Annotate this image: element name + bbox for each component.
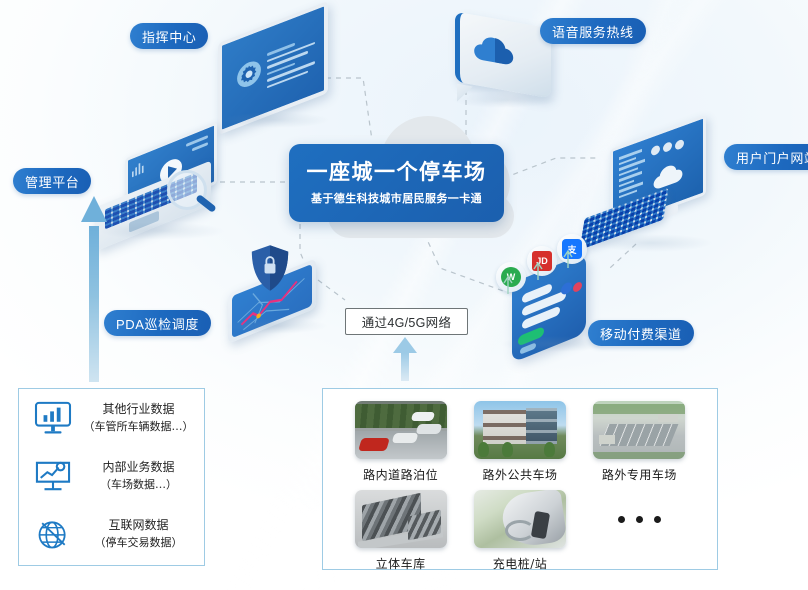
monitor-shadow — [222, 112, 330, 128]
payment-up-arrows — [492, 238, 602, 300]
monitor-line-chart-icon — [31, 456, 75, 496]
public-garage-photo — [474, 401, 566, 459]
scene-item[interactable]: 路外公共车场 — [460, 401, 579, 486]
data-source-title: 其他行业数据 — [81, 401, 196, 418]
globe-network-icon — [31, 514, 75, 554]
network-label: 通过4G/5G网络 — [362, 312, 452, 331]
data-source-detail: （车场数据…） — [81, 477, 196, 493]
data-sources-panel: 其他行业数据 （车管所车辆数据…） 内部业务数据 （车场数据…） — [18, 388, 205, 566]
banner-subtitle: 基于德生科技城市居民服务一卡通 — [311, 190, 482, 206]
screen-bars-icon — [132, 155, 154, 179]
infographic-canvas: 指挥中心 语音服务热线 — [0, 0, 808, 590]
pda-tablet — [228, 262, 318, 324]
scene-label: 路外公共车场 — [482, 466, 557, 483]
parking-scenes-panel: 路内道路泊位 路外公共车场 路外专用车场 — [322, 388, 718, 570]
banner-title: 一座城一个停车场 — [307, 160, 487, 183]
management-laptop — [95, 140, 221, 232]
data-source-row[interactable]: 内部业务数据 （车场数据…） — [19, 447, 204, 505]
scene-item[interactable]: 立体车库 — [341, 490, 460, 575]
scene-label: 路外专用车场 — [602, 466, 677, 483]
management-flow-arrow — [80, 196, 108, 382]
voice-hotline-bubble — [455, 20, 551, 90]
badge-command-center[interactable]: 指挥中心 — [130, 23, 208, 49]
scene-item[interactable]: 路外专用车场 — [580, 401, 699, 486]
scene-label: 路内道路泊位 — [363, 466, 438, 483]
center-banner: 一座城一个停车场 基于德生科技城市居民服务一卡通 — [289, 144, 504, 222]
data-source-title: 内部业务数据 — [81, 459, 196, 476]
badge-pda-dispatch[interactable]: PDA巡检调度 — [104, 310, 211, 336]
tablet-shadow — [224, 318, 328, 334]
ellipsis-icon — [618, 490, 661, 548]
badge-voice-hotline[interactable]: 语音服务热线 — [540, 18, 646, 44]
shield-lock-icon — [250, 244, 290, 292]
data-source-title: 互联网数据 — [81, 517, 196, 534]
street-parking-photo — [355, 401, 447, 459]
multilevel-garage-photo — [355, 490, 447, 548]
bubble-shadow — [452, 92, 558, 108]
badge-management-platform[interactable]: 管理平台 — [13, 168, 91, 194]
monitor-text-lines — [267, 35, 315, 92]
scene-item[interactable]: 路内道路泊位 — [341, 401, 460, 486]
data-source-detail: （车管所车辆数据…） — [81, 419, 196, 435]
desktop-shadow — [588, 234, 714, 252]
badge-user-portal[interactable]: 用户门户网站 — [724, 144, 808, 170]
scene-item[interactable]: 充电桩/站 — [460, 490, 579, 575]
network-flow-arrow — [392, 337, 418, 381]
gear-icon — [236, 56, 262, 92]
data-source-row[interactable]: 互联网数据 （停车交易数据） — [19, 505, 204, 563]
data-source-detail: （停车交易数据） — [81, 535, 196, 551]
data-source-row[interactable]: 其他行业数据 （车管所车辆数据…） — [19, 389, 204, 447]
charging-station-photo — [474, 490, 566, 548]
monitor-bar-chart-icon — [31, 398, 75, 438]
laptop-shadow — [98, 222, 226, 240]
dedicated-lot-photo — [593, 401, 685, 459]
scene-label: 充电桩/站 — [493, 555, 548, 572]
cloud-icon — [649, 152, 695, 197]
scene-more: . — [580, 490, 699, 575]
user-portal-desktop — [600, 132, 708, 242]
scene-label: 立体车库 — [376, 555, 426, 572]
network-label-box: 通过4G/5G网络 — [345, 308, 468, 335]
badge-mobile-payment[interactable]: 移动付费渠道 — [588, 320, 694, 346]
